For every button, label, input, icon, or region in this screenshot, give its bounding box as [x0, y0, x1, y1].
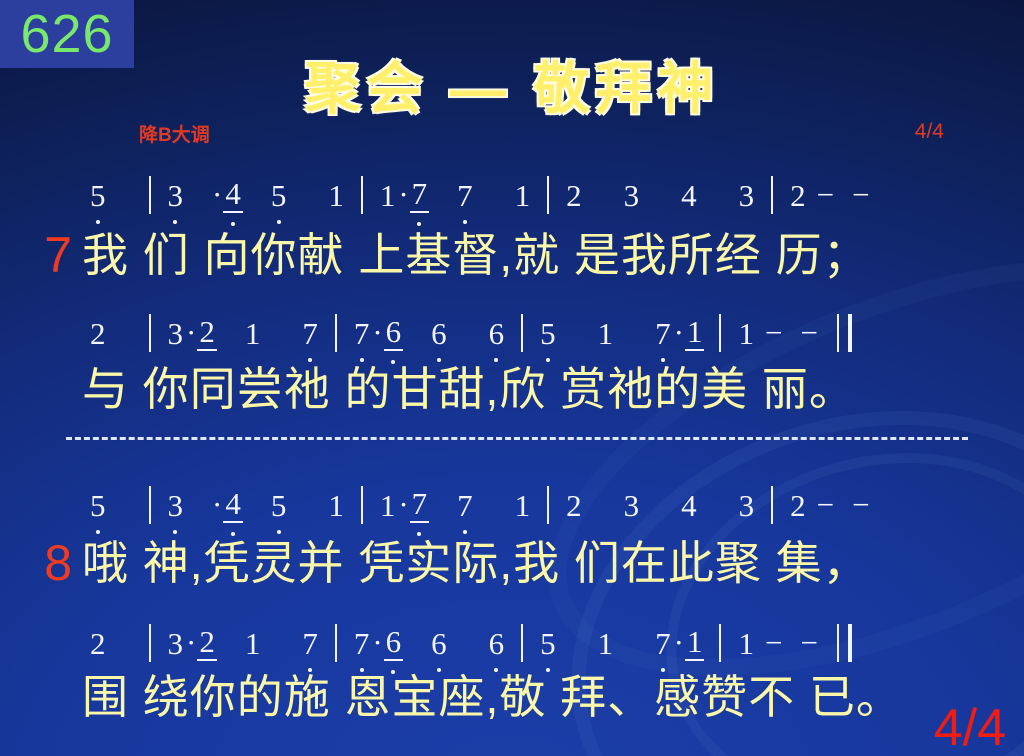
jianpu-note: 3 — [622, 490, 642, 521]
dotted-rhythm-dot: · — [397, 487, 409, 523]
barline — [149, 176, 151, 214]
jianpu-note: 1 — [243, 318, 263, 349]
notation-line-4: 23·2177·666517·11−− — [88, 618, 994, 668]
jianpu-note: 5 — [538, 628, 558, 659]
jianpu-note: 2 — [788, 180, 808, 211]
barline — [335, 624, 337, 662]
note-extension-dash: − — [791, 315, 826, 351]
barline — [149, 314, 151, 352]
dotted-rhythm-dot: · — [211, 177, 223, 213]
jianpu-note: 6 — [487, 318, 507, 349]
jianpu-note: 7 — [300, 318, 320, 349]
time-signature-top: 4/4 — [915, 120, 944, 144]
jianpu-note: 2 — [564, 180, 584, 211]
barline — [361, 486, 363, 524]
jianpu-note: 2 — [564, 490, 584, 521]
jianpu-note: 1 — [326, 490, 346, 521]
dotted-rhythm-dot: · — [185, 315, 197, 351]
jianpu-note: 2 — [788, 490, 808, 521]
lyric-text: 与 你同尝祂 的甘甜,欣 赏祂的美 丽。 — [82, 366, 856, 412]
jianpu-note: 7 — [653, 628, 673, 659]
jianpu-note: 4 — [679, 490, 699, 521]
jianpu-note: 2 — [88, 628, 108, 659]
jianpu-note: 6 — [487, 628, 507, 659]
jianpu-note: 1 — [736, 628, 756, 659]
dotted-rhythm-dot: · — [397, 177, 409, 213]
barline — [771, 176, 773, 214]
notation-line-3: 53·4511·77123432−− — [88, 480, 994, 530]
jianpu-note: 7 — [410, 488, 430, 523]
jianpu-note: 7 — [410, 178, 430, 213]
dotted-rhythm-dot: · — [211, 487, 223, 523]
lyric-text: 哦 神,凭灵并 凭实际,我 们在此聚 集， — [82, 540, 870, 586]
hymn-slide: 626 聚会 — 敬拜神 降B大调 4/4 4/4 53·4511·771234… — [0, 0, 1024, 756]
barline — [719, 314, 721, 352]
note-extension-dash: − — [808, 177, 843, 213]
jianpu-note: 6 — [429, 628, 449, 659]
lyric-line: 8 哦 神,凭灵并 凭实际,我 们在此聚 集， — [0, 532, 1024, 594]
page-title: 聚会 — 敬拜神 — [0, 44, 1024, 125]
final-barline — [837, 314, 852, 352]
dotted-rhythm-dot: · — [673, 315, 685, 351]
lyric-line: 7 我 们 向你献 上基督,就 是我所经 历； — [0, 224, 1024, 286]
jianpu-note: 7 — [352, 628, 372, 659]
barline — [547, 176, 549, 214]
jianpu-note: 6 — [429, 318, 449, 349]
lyric-line: 与 你同尝祂 的甘甜,欣 赏祂的美 丽。 — [0, 358, 1024, 420]
lyric-line: 围 绕你的施 恩宝座,敬 拜、感赞不 已。 — [0, 666, 1024, 728]
lyric-text: 我 们 向你献 上基督,就 是我所经 历； — [82, 232, 870, 278]
jianpu-note: 3 — [737, 180, 757, 211]
note-extension-dash: − — [808, 487, 843, 523]
jianpu-note: 7 — [352, 318, 372, 349]
jianpu-note: 1 — [596, 628, 616, 659]
barline — [547, 486, 549, 524]
jianpu-note: 7 — [653, 318, 673, 349]
key-signature-label: 降B大调 — [139, 120, 210, 147]
note-extension-dash: − — [756, 625, 791, 661]
note-extension-dash: − — [756, 315, 791, 351]
jianpu-note: 3 — [166, 180, 186, 211]
jianpu-note: 1 — [596, 318, 616, 349]
jianpu-note: 1 — [243, 628, 263, 659]
jianpu-note: 3 — [737, 490, 757, 521]
jianpu-note: 5 — [269, 180, 289, 211]
jianpu-note: 5 — [88, 490, 108, 521]
dotted-rhythm-dot: · — [371, 625, 383, 661]
jianpu-note: 6 — [384, 626, 404, 661]
barline — [521, 314, 523, 352]
jianpu-note: 4 — [223, 178, 243, 213]
jianpu-note: 3 — [166, 490, 186, 521]
jianpu-note: 5 — [269, 490, 289, 521]
jianpu-note: 5 — [538, 318, 558, 349]
verse-number: 7 — [0, 230, 82, 280]
jianpu-note: 1 — [378, 180, 398, 211]
barline — [149, 486, 151, 524]
jianpu-note: 7 — [455, 180, 475, 211]
jianpu-note: 5 — [88, 180, 108, 211]
jianpu-note: 2 — [88, 318, 108, 349]
jianpu-note: 1 — [513, 490, 533, 521]
verse-number: 8 — [0, 538, 82, 588]
barline — [149, 624, 151, 662]
jianpu-note: 1 — [378, 490, 398, 521]
note-extension-dash: − — [843, 177, 878, 213]
jianpu-note: 4 — [679, 180, 699, 211]
barline — [361, 176, 363, 214]
jianpu-note: 3 — [622, 180, 642, 211]
jianpu-note: 1 — [685, 316, 705, 351]
barline — [719, 624, 721, 662]
verse-divider — [66, 437, 968, 440]
barline — [771, 486, 773, 524]
notation-line-2: 23·2177·666517·11−− — [88, 308, 994, 358]
dotted-rhythm-dot: · — [371, 315, 383, 351]
jianpu-note: 6 — [384, 316, 404, 351]
dotted-rhythm-dot: · — [185, 625, 197, 661]
final-barline — [837, 624, 852, 662]
jianpu-note: 3 — [166, 628, 186, 659]
jianpu-note: 1 — [685, 626, 705, 661]
jianpu-note: 2 — [197, 316, 217, 351]
note-extension-dash: − — [791, 625, 826, 661]
notation-line-1: 53·4511·77123432−− — [88, 170, 994, 220]
jianpu-note: 4 — [223, 488, 243, 523]
dotted-rhythm-dot: · — [673, 625, 685, 661]
barline — [521, 624, 523, 662]
jianpu-note: 7 — [300, 628, 320, 659]
note-extension-dash: − — [843, 487, 878, 523]
jianpu-note: 7 — [455, 490, 475, 521]
jianpu-note: 1 — [513, 180, 533, 211]
jianpu-note: 3 — [166, 318, 186, 349]
jianpu-note: 1 — [736, 318, 756, 349]
barline — [335, 314, 337, 352]
jianpu-note: 1 — [326, 180, 346, 211]
jianpu-note: 2 — [197, 626, 217, 661]
lyric-text: 围 绕你的施 恩宝座,敬 拜、感赞不 已。 — [82, 674, 903, 720]
